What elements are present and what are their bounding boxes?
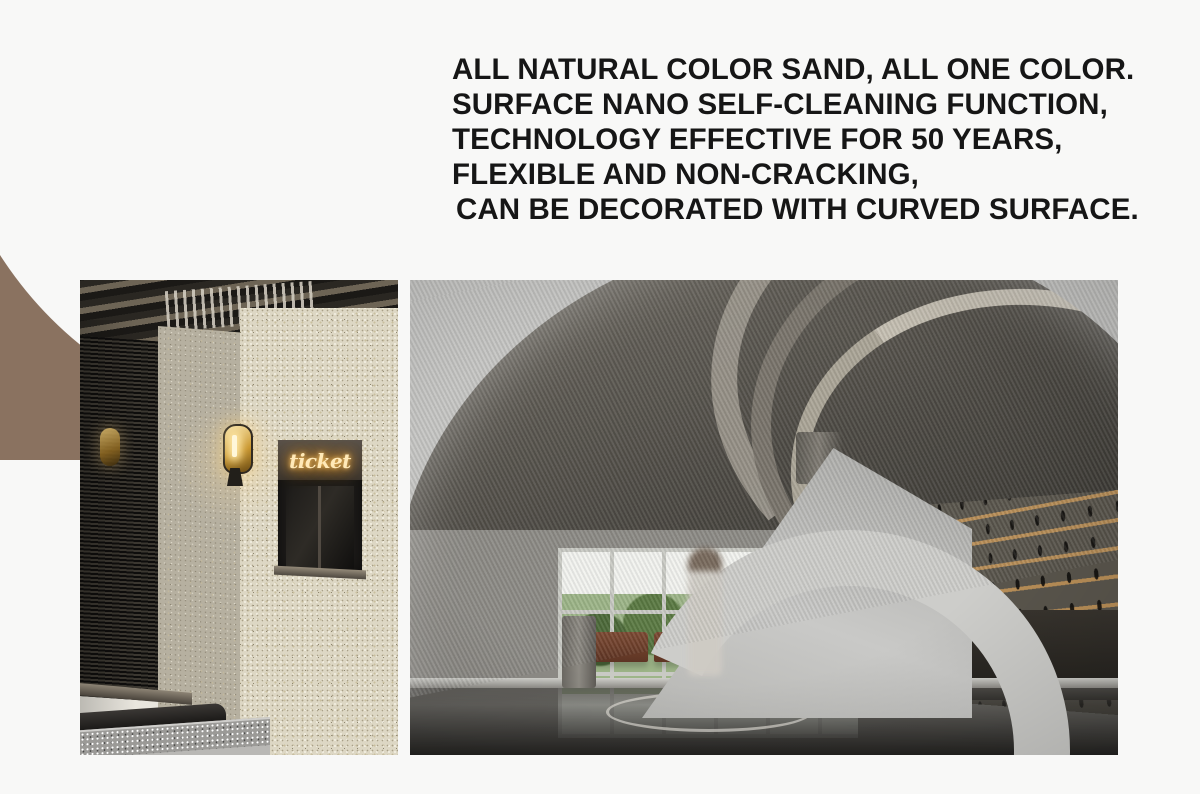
- headline-block: ALL NATURAL COLOR SAND, ALL ONE COLOR. S…: [452, 52, 1152, 227]
- headline-line-2: SURFACE NANO SELF-CLEANING FUNCTION,: [452, 87, 1152, 122]
- wall-sconce-icon: [223, 424, 253, 474]
- headline-line-1: ALL NATURAL COLOR SAND, ALL ONE COLOR.: [452, 52, 1152, 87]
- ticket-neon-sign: ticket: [283, 446, 357, 476]
- sconce-secondary: [100, 428, 120, 466]
- slatted-wall-shadow: [80, 320, 136, 720]
- product-feature-slide: ALL NATURAL COLOR SAND, ALL ONE COLOR. S…: [0, 0, 1200, 794]
- photo-row: ticket: [80, 280, 1118, 755]
- headline-line-3: TECHNOLOGY EFFECTIVE FOR 50 YEARS,: [452, 122, 1152, 157]
- sconce-filament: [232, 435, 237, 457]
- photo-exterior-facade: ticket: [80, 280, 398, 755]
- headline-line-5: CAN BE DECORATED WITH CURVED SURFACE.: [452, 192, 1152, 227]
- ticket-window-mullion: [318, 486, 321, 570]
- photo-lobby-interior: [410, 280, 1118, 755]
- headline-line-4: FLEXIBLE AND NON-CRACKING,: [452, 157, 1152, 192]
- sand-pier-left-face: [158, 326, 244, 753]
